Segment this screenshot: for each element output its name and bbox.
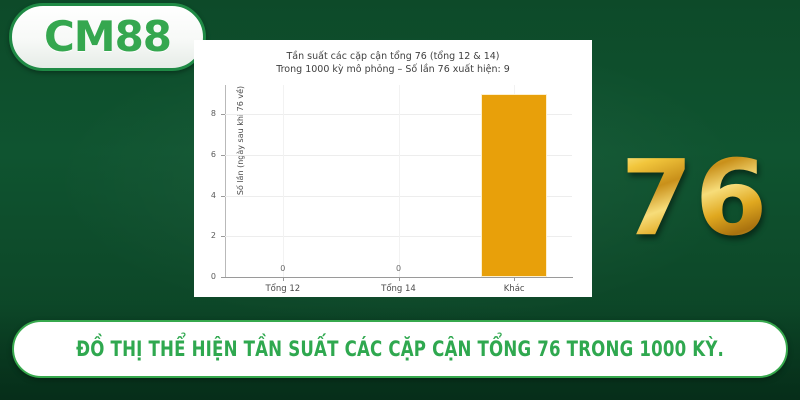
gold-number-text: 76 <box>621 146 770 250</box>
bar-value-label: 0 <box>379 265 419 273</box>
x-tick-mark <box>399 277 400 281</box>
logo-text: CM88 <box>44 16 171 58</box>
y-tick-label: 6 <box>198 151 216 159</box>
bar-value-label: 0 <box>263 265 303 273</box>
gridline-vertical <box>399 85 400 277</box>
plot-wrapper: Số lần (ngày sau khi 76 về) 02468 00 Tổn… <box>194 40 592 297</box>
chart-panel: Tần suất các cặp cận tổng 76 (tổng 12 & … <box>194 40 592 297</box>
x-tick-mark <box>514 277 515 281</box>
y-tick-label: 4 <box>198 192 216 200</box>
plot-area: 00 <box>225 85 572 277</box>
y-tick-label: 2 <box>198 232 216 240</box>
caption-text: ĐỒ THỊ THỂ HIỆN TẦN SUẤT CÁC CẶP CẬN TỔN… <box>76 337 724 361</box>
bar-3 <box>481 94 547 277</box>
x-tick-label: Khác <box>469 284 559 294</box>
y-tick-label: 0 <box>198 273 216 281</box>
x-tick-mark <box>283 277 284 281</box>
gold-number-76: 76 <box>600 138 790 258</box>
cm88-logo: CM88 <box>9 3 206 71</box>
caption-bar: ĐỒ THỊ THỂ HIỆN TẦN SUẤT CÁC CẶP CẬN TỔN… <box>12 320 788 378</box>
x-tick-label: Tổng 14 <box>354 284 444 294</box>
x-tick-label: Tổng 12 <box>238 284 328 294</box>
gridline-vertical <box>283 85 284 277</box>
y-tick-label: 8 <box>198 110 216 118</box>
